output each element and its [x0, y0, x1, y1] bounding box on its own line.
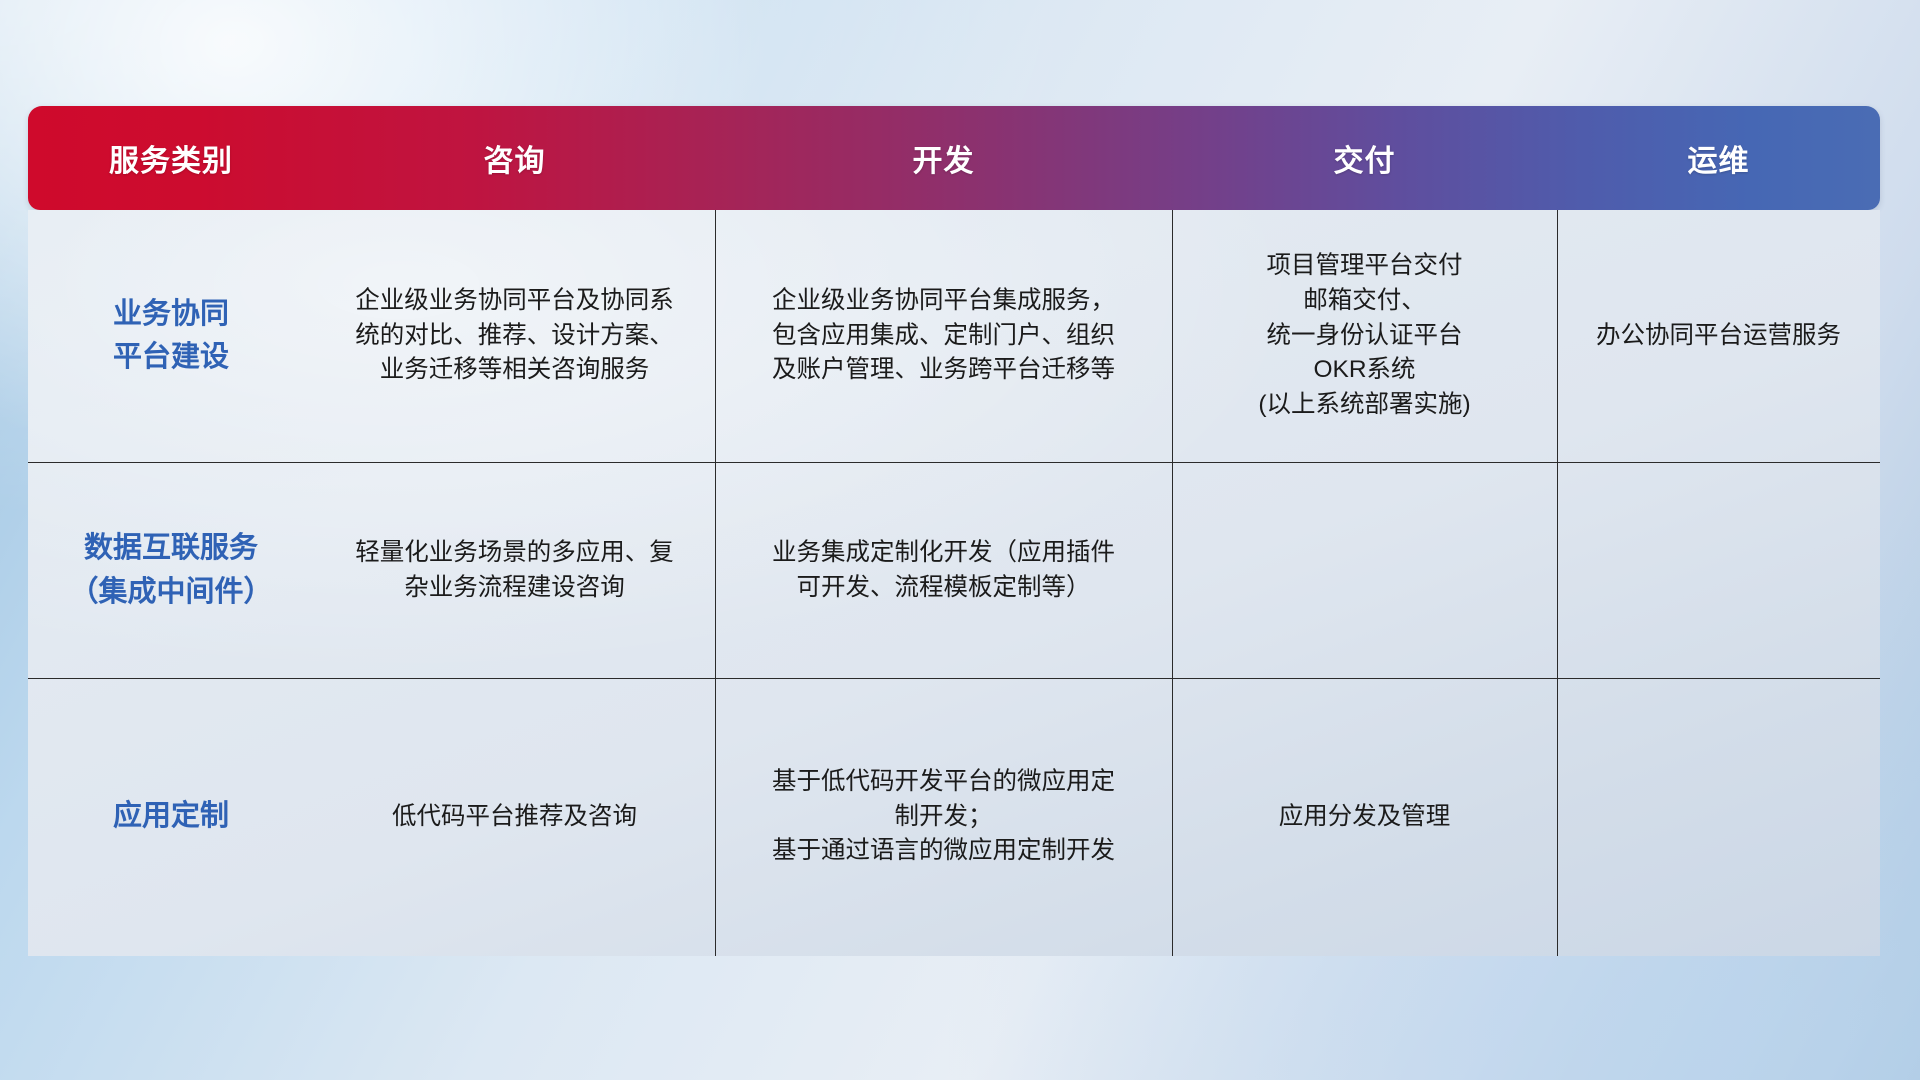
cell-category: 应用定制 [28, 679, 314, 955]
cell-category: 数据互联服务 （集成中间件） [28, 463, 314, 678]
cell-delivery: 项目管理平台交付 邮箱交付、 统一身份认证平台 OKR系统 (以上系统部署实施) [1172, 210, 1557, 462]
cell-operations [1557, 463, 1880, 678]
table-row: 数据互联服务 （集成中间件） 轻量化业务场景的多应用、复 杂业务流程建设咨询 业… [28, 462, 1880, 678]
cell-delivery [1172, 463, 1557, 678]
cell-development: 企业级业务协同平台集成服务， 包含应用集成、定制门户、组织 及账户管理、业务跨平… [715, 210, 1172, 462]
cell-delivery: 应用分发及管理 [1172, 679, 1557, 955]
cell-consulting: 企业级业务协同平台及协同系 统的对比、推荐、设计方案、 业务迁移等相关咨询服务 [314, 210, 715, 462]
slide-canvas: 服务类别 咨询 开发 交付 运维 业务协同 平台建设 企业级业务协同平台及协同系… [0, 0, 1920, 1080]
service-matrix-table: 服务类别 咨询 开发 交付 运维 业务协同 平台建设 企业级业务协同平台及协同系… [28, 106, 1880, 956]
cell-operations [1557, 679, 1880, 955]
column-header-operations: 运维 [1557, 106, 1880, 210]
cell-consulting: 低代码平台推荐及咨询 [314, 679, 715, 955]
column-header-delivery: 交付 [1172, 106, 1557, 210]
column-header-consulting: 咨询 [314, 106, 715, 210]
cell-consulting: 轻量化业务场景的多应用、复 杂业务流程建设咨询 [314, 463, 715, 678]
cell-category: 业务协同 平台建设 [28, 210, 314, 462]
cell-development: 基于低代码开发平台的微应用定 制开发； 基于通过语言的微应用定制开发 [715, 679, 1172, 955]
cell-development: 业务集成定制化开发（应用插件 可开发、流程模板定制等） [715, 463, 1172, 678]
cell-operations: 办公协同平台运营服务 [1557, 210, 1880, 462]
table-row: 应用定制 低代码平台推荐及咨询 基于低代码开发平台的微应用定 制开发； 基于通过… [28, 678, 1880, 955]
table-body: 业务协同 平台建设 企业级业务协同平台及协同系 统的对比、推荐、设计方案、 业务… [28, 210, 1880, 956]
column-header-category: 服务类别 [28, 106, 314, 210]
table-row: 业务协同 平台建设 企业级业务协同平台及协同系 统的对比、推荐、设计方案、 业务… [28, 210, 1880, 462]
column-header-development: 开发 [715, 106, 1172, 210]
table-header-row: 服务类别 咨询 开发 交付 运维 [28, 106, 1880, 210]
